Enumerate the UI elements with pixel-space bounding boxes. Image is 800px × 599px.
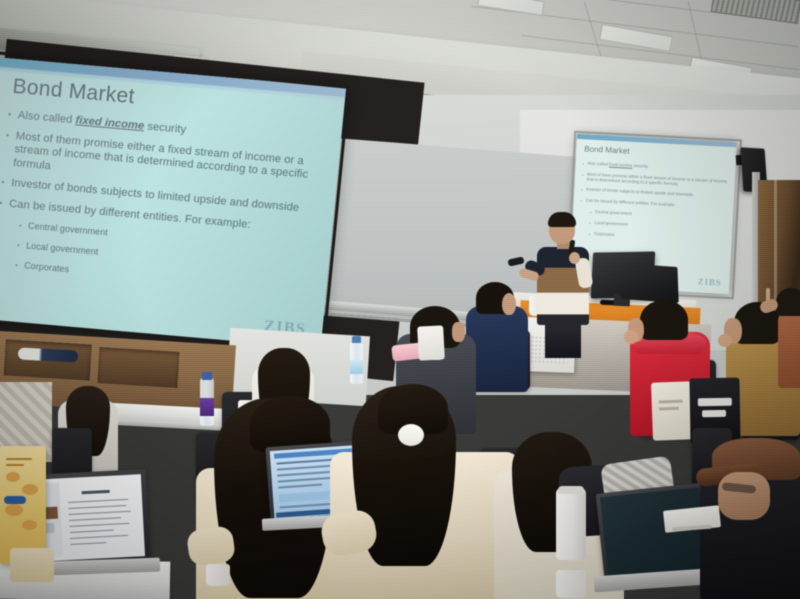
paper-cup: [206, 564, 230, 586]
water-bottle: [200, 378, 214, 426]
thermos-flask: [556, 488, 586, 560]
student-far-right-torso: [778, 308, 800, 388]
student-olive-jacket-hand: [718, 334, 732, 347]
presenter-hand-right: [569, 252, 580, 264]
snack-pile: [10, 548, 54, 582]
ceiling-air-vent: [711, 0, 800, 24]
bottle-cap: [202, 372, 212, 380]
presenter: [523, 214, 609, 344]
projector-screen-frame: [0, 51, 350, 356]
student-navy-coat-face: [502, 293, 516, 315]
student-red-hoodie-hair: [640, 300, 688, 340]
snack-bag: [0, 446, 46, 564]
tote-bag: [651, 381, 693, 440]
student-far-right-hair: [776, 288, 800, 316]
thermos-cap: [558, 486, 584, 494]
student-red-hoodie-hand: [624, 330, 638, 344]
hair-clip: [398, 424, 424, 446]
ceiling-light-panel: [599, 24, 673, 52]
student-grey-hoodie-face: [452, 322, 465, 342]
laptop-screen: [600, 487, 708, 579]
student-cap-right-face: [718, 472, 770, 520]
desktop-monitor-secondary: [619, 263, 678, 303]
paper-cup: [556, 570, 586, 598]
presenter-legs: [545, 320, 581, 358]
water-bottle: [350, 342, 363, 384]
presenter-hair: [548, 212, 576, 227]
bottle-cap: [352, 336, 361, 343]
classroom-photo: Bond Market • Also called fixed income s…: [0, 0, 800, 599]
white-bag: [417, 325, 445, 360]
